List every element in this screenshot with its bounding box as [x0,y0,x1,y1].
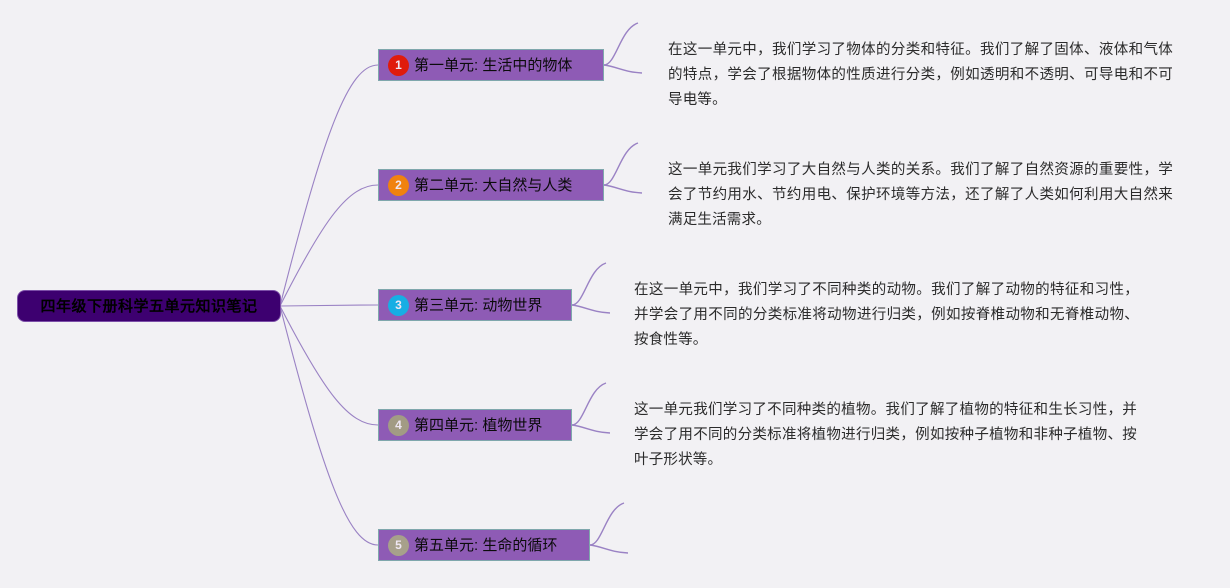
root-node-label: 四年级下册科学五单元知识笔记 [40,299,257,314]
branch-badge-4: 4 [388,415,409,436]
branch-badge-3: 3 [388,295,409,316]
branch-description-3: 在这一单元中，我们学习了不同种类的动物。我们了解了动物的特征和习性，并学会了用不… [634,278,1139,353]
branch-badge-1: 1 [388,55,409,76]
branch-node-1[interactable]: 1 第一单元: 生活中的物体 [378,49,604,81]
branch-node-4[interactable]: 4 第四单元: 植物世界 [378,409,572,441]
branch-node-5[interactable]: 5 第五单元: 生命的循环 [378,529,590,561]
branch-description-2: 这一单元我们学习了大自然与人类的关系。我们了解了自然资源的重要性，学会了节约用水… [668,158,1173,233]
branch-node-2[interactable]: 2 第二单元: 大自然与人类 [378,169,604,201]
branch-node-3[interactable]: 3 第三单元: 动物世界 [378,289,572,321]
mindmap-canvas: 四年级下册科学五单元知识笔记 1 第一单元: 生活中的物体 2 第二单元: 大自… [0,0,1230,588]
branch-description-1: 在这一单元中，我们学习了物体的分类和特征。我们了解了固体、液体和气体的特点，学会… [668,38,1173,113]
branch-label-2: 第二单元: 大自然与人类 [414,178,572,193]
branch-label-4: 第四单元: 植物世界 [414,418,542,433]
branch-description-4: 这一单元我们学习了不同种类的植物。我们了解了植物的特征和生长习性，并学会了用不同… [634,398,1137,473]
branch-badge-2: 2 [388,175,409,196]
branch-label-3: 第三单元: 动物世界 [414,298,542,313]
branch-label-5: 第五单元: 生命的循环 [414,538,557,553]
branch-badge-5: 5 [388,535,409,556]
branch-label-1: 第一单元: 生活中的物体 [414,58,572,73]
root-node[interactable]: 四年级下册科学五单元知识笔记 [18,291,280,321]
